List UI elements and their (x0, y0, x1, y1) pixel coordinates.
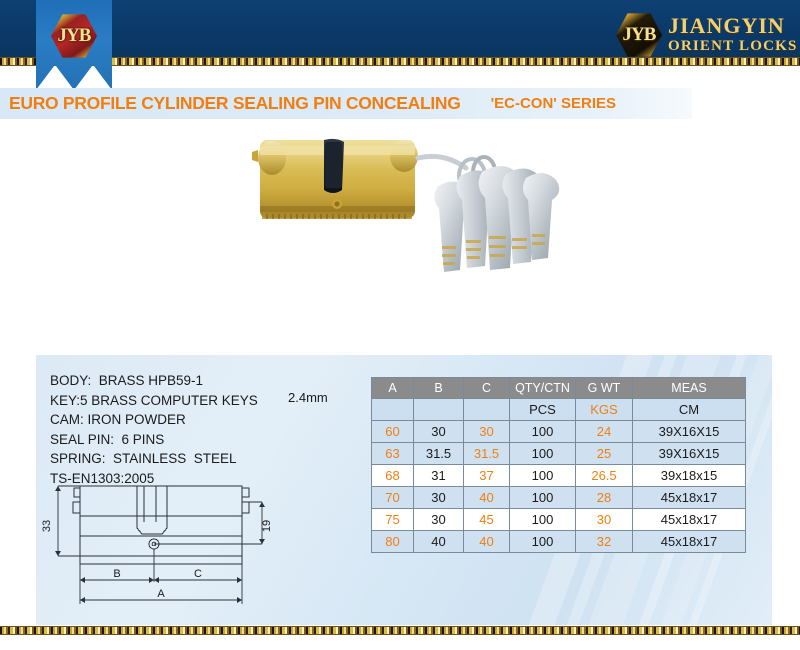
unit-b (414, 399, 464, 421)
cell-meas: 39X16X15 (633, 421, 746, 443)
cell-gwt: 30 (576, 509, 633, 531)
dim-label-c: C (194, 568, 202, 580)
table-row: 60 30 30 100 24 39X16X15 (372, 421, 746, 443)
cell-qty: 100 (510, 443, 576, 465)
unit-c (464, 399, 510, 421)
jyb-monogram-left: JYB (58, 25, 91, 47)
table-row: 80 40 40 100 32 45x18x17 (372, 531, 746, 553)
brand-name-line1: JIANGYIN (668, 15, 798, 37)
brand-name-line2: ORIENT LOCKS (668, 39, 798, 54)
cell-b: 30 (414, 509, 464, 531)
dim-label-cam: 19 (261, 520, 273, 532)
brand-name: JIANGYIN ORIENT LOCKS (668, 15, 798, 54)
cell-b: 30 (414, 421, 464, 443)
unit-gwt: KGS (576, 399, 633, 421)
cell-a: 70 (372, 487, 414, 509)
table-row: 68 31 37 100 26.5 39x18x15 (372, 465, 746, 487)
dimension-table: A B C QTY/CTN G WT MEAS PCS KGS CM 60 30… (371, 377, 746, 553)
unit-qty: PCS (510, 399, 576, 421)
technical-drawing: 33 19 B C A (36, 478, 336, 626)
series-label: 'EC-CON' SERIES (491, 95, 617, 112)
table-units-row: PCS KGS CM (372, 399, 746, 421)
cell-b: 31 (414, 465, 464, 487)
cell-gwt: 28 (576, 487, 633, 509)
cell-c: 40 (464, 487, 510, 509)
cell-qty: 100 (510, 509, 576, 531)
unit-a (372, 399, 414, 421)
table-row: 63 31.5 31.5 100 25 39X16X15 (372, 443, 746, 465)
cell-b: 40 (414, 531, 464, 553)
table-row: 75 30 45 100 30 45x18x17 (372, 509, 746, 531)
cell-a: 63 (372, 443, 414, 465)
gold-ornament-border-top (0, 57, 800, 66)
page-title: EURO PROFILE CYLINDER SEALING PIN CONCEA… (9, 93, 461, 114)
cell-meas: 39X16X15 (633, 443, 746, 465)
dim-label-height: 33 (41, 520, 53, 532)
table-header-c: C (464, 378, 510, 399)
cell-b: 31.5 (414, 443, 464, 465)
table-header-gwt: G WT (576, 378, 633, 399)
cell-gwt: 26.5 (576, 465, 633, 487)
table-header-meas: MEAS (633, 378, 746, 399)
table-header-row: A B C QTY/CTN G WT MEAS (372, 378, 746, 399)
cell-gwt: 32 (576, 531, 633, 553)
table-header-a: A (372, 378, 414, 399)
cell-a: 60 (372, 421, 414, 443)
spec-line-spring: SPRING: STAINLESS STEEL (50, 449, 350, 469)
cell-qty: 100 (510, 465, 576, 487)
cell-gwt: 24 (576, 421, 633, 443)
product-photo (232, 128, 562, 348)
cell-meas: 45x18x17 (633, 487, 746, 509)
cell-qty: 100 (510, 487, 576, 509)
cell-c: 30 (464, 421, 510, 443)
cell-c: 37 (464, 465, 510, 487)
cell-qty: 100 (510, 531, 576, 553)
cell-meas: 45x18x17 (633, 509, 746, 531)
cell-a: 68 (372, 465, 414, 487)
gold-ornament-border-bottom (0, 626, 800, 635)
cell-c: 31.5 (464, 443, 510, 465)
spec-line-cam: CAM: IRON POWDER (50, 410, 350, 430)
cell-meas: 45x18x17 (633, 531, 746, 553)
dim-label-a: A (157, 588, 165, 600)
table-header-b: B (414, 378, 464, 399)
cell-b: 30 (414, 487, 464, 509)
cell-qty: 100 (510, 421, 576, 443)
table-row: 70 30 40 100 28 45x18x17 (372, 487, 746, 509)
cell-a: 80 (372, 531, 414, 553)
spec-line-seal-pin: SEAL PIN: 6 PINS (50, 430, 350, 450)
table-header-qty: QTY/CTN (510, 378, 576, 399)
dim-label-b: B (113, 568, 120, 580)
spec-line-body: BODY: BRASS HPB59-1 (50, 371, 350, 391)
cell-a: 75 (372, 509, 414, 531)
product-title-bar: EURO PROFILE CYLINDER SEALING PIN CONCEA… (0, 88, 692, 119)
unit-meas: CM (633, 399, 746, 421)
cell-c: 45 (464, 509, 510, 531)
cell-meas: 39x18x15 (633, 465, 746, 487)
cell-gwt: 25 (576, 443, 633, 465)
key-thickness-value: 2.4mm (288, 390, 328, 405)
jyb-monogram-right: JYB (623, 24, 656, 46)
material-specifications: BODY: BRASS HPB59-1 KEY:5 BRASS COMPUTER… (50, 371, 350, 488)
cell-c: 40 (464, 531, 510, 553)
